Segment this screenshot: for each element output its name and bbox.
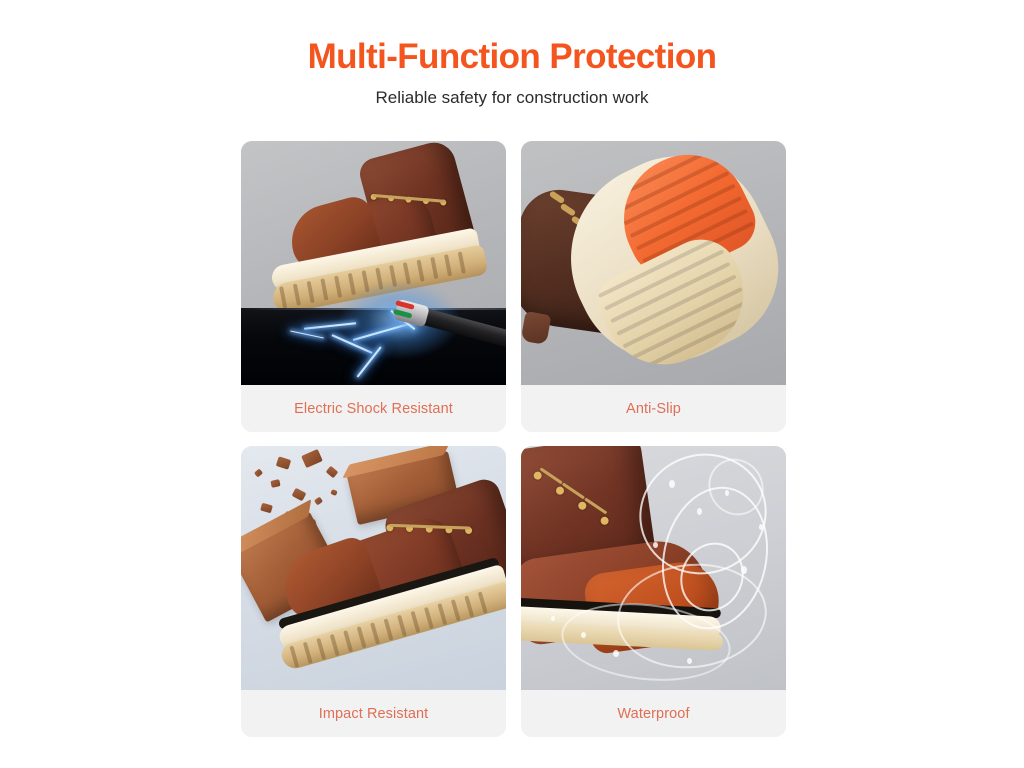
feature-image-waterproof <box>521 446 786 690</box>
anti-slip-scene <box>521 141 786 385</box>
feature-card-electric-shock-resistant[interactable]: Electric Shock Resistant <box>241 141 506 432</box>
feature-image-electric-shock-resistant <box>241 141 506 385</box>
cable-core-green <box>393 309 413 319</box>
water-droplet <box>687 658 692 664</box>
water-droplet <box>669 480 675 488</box>
feature-image-anti-slip <box>521 141 786 385</box>
water-droplet <box>759 524 763 530</box>
feature-caption-electric-shock-resistant: Electric Shock Resistant <box>241 385 506 432</box>
feature-card-waterproof[interactable]: Waterproof <box>521 446 786 737</box>
waterproof-scene <box>521 446 786 690</box>
water-droplet <box>725 490 729 496</box>
electric-shock-scene <box>241 141 506 385</box>
product-feature-page: Multi-Function Protection Reliable safet… <box>0 0 1024 768</box>
boot-outsole-illustration <box>521 141 786 385</box>
cable-core-red <box>395 300 415 310</box>
page-subtitle: Reliable safety for construction work <box>0 87 1024 109</box>
boot-heel-tab <box>521 311 551 345</box>
page-header: Multi-Function Protection Reliable safet… <box>0 36 1024 109</box>
water-droplet <box>741 566 747 574</box>
feature-caption-impact-resistant: Impact Resistant <box>241 690 506 737</box>
feature-image-impact-resistant <box>241 446 506 690</box>
feature-card-impact-resistant[interactable]: Impact Resistant <box>241 446 506 737</box>
feature-caption-anti-slip: Anti-Slip <box>521 385 786 432</box>
water-droplet <box>613 650 619 657</box>
impact-resistant-scene <box>241 446 506 690</box>
page-title: Multi-Function Protection <box>0 36 1024 78</box>
feature-card-anti-slip[interactable]: Anti-Slip <box>521 141 786 432</box>
water-droplet <box>551 616 555 621</box>
water-droplet <box>697 508 702 515</box>
water-droplet <box>581 632 586 638</box>
feature-grid: Electric Shock Resistant <box>241 141 786 737</box>
feature-caption-waterproof: Waterproof <box>521 690 786 737</box>
water-droplet <box>653 542 658 548</box>
